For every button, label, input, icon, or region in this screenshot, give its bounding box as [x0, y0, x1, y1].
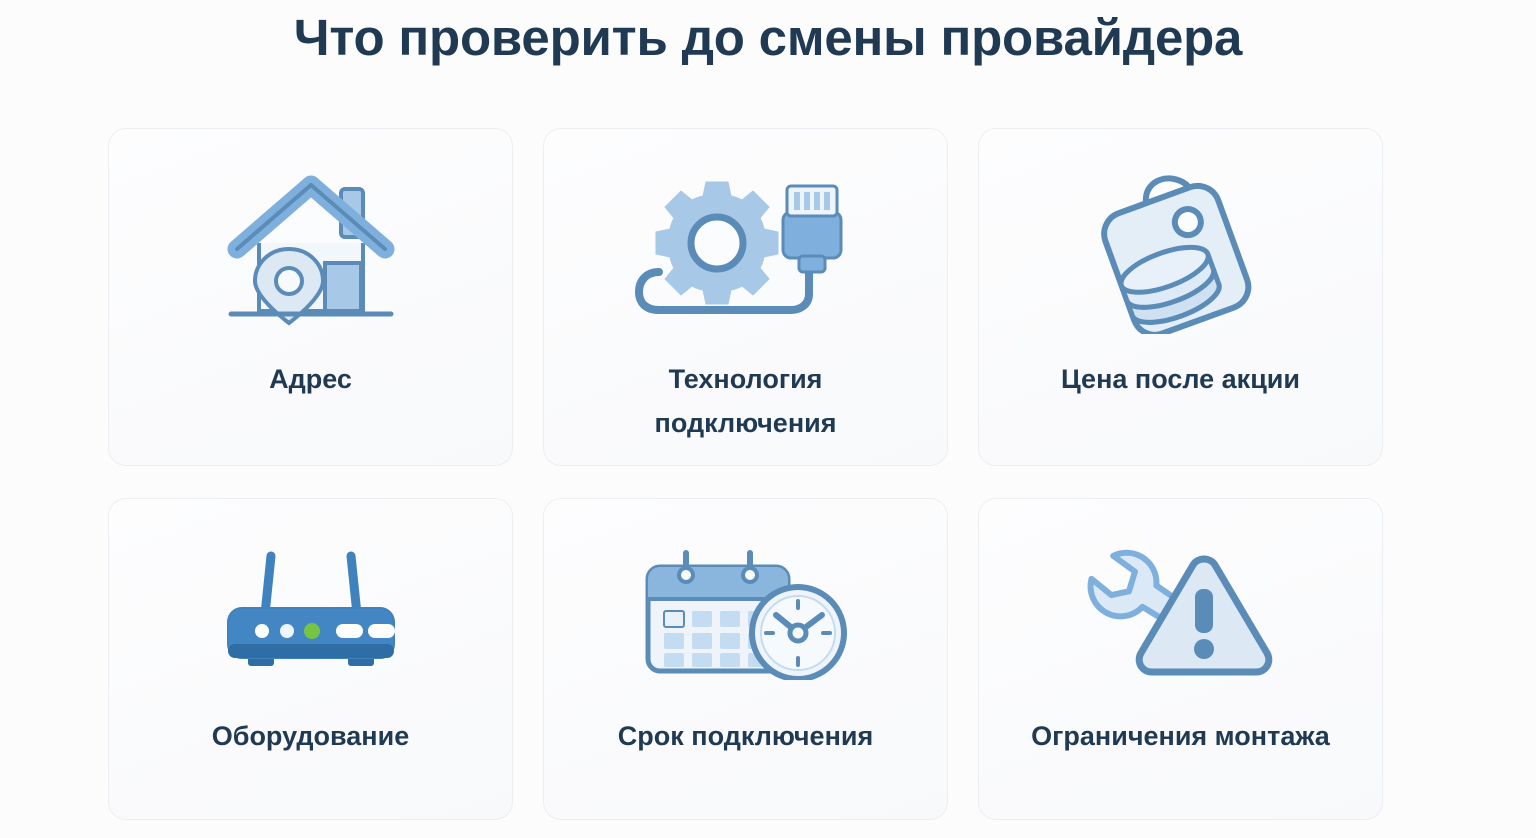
card-label-technology: Технология подключения [544, 357, 947, 445]
card-timeline[interactable]: Срок подключения [543, 498, 948, 820]
house-location-icon [109, 151, 512, 351]
card-limits[interactable]: Ограничения монтажа [978, 498, 1383, 820]
wifi-router-icon [109, 525, 512, 700]
gear-ethernet-cable-icon [544, 151, 947, 351]
card-label-price: Цена после акции [979, 357, 1382, 401]
checklist-card-grid: Адрес [108, 128, 1428, 820]
page-title: Что проверить до смены провайдера [0, 4, 1536, 72]
price-tag-coins-icon [979, 151, 1382, 351]
card-equipment[interactable]: Оборудование [108, 498, 513, 820]
card-label-limits: Ограничения монтажа [979, 714, 1382, 758]
card-address[interactable]: Адрес [108, 128, 513, 466]
infographic-page: Что проверить до смены провайдера [0, 0, 1536, 838]
calendar-clock-icon [544, 525, 947, 700]
card-label-address: Адрес [109, 357, 512, 401]
card-price[interactable]: Цена после акции [978, 128, 1383, 466]
card-label-timeline: Срок подключения [544, 714, 947, 758]
card-label-equipment: Оборудование [109, 714, 512, 758]
wrench-warning-icon [979, 525, 1382, 700]
card-technology[interactable]: Технология подключения [543, 128, 948, 466]
